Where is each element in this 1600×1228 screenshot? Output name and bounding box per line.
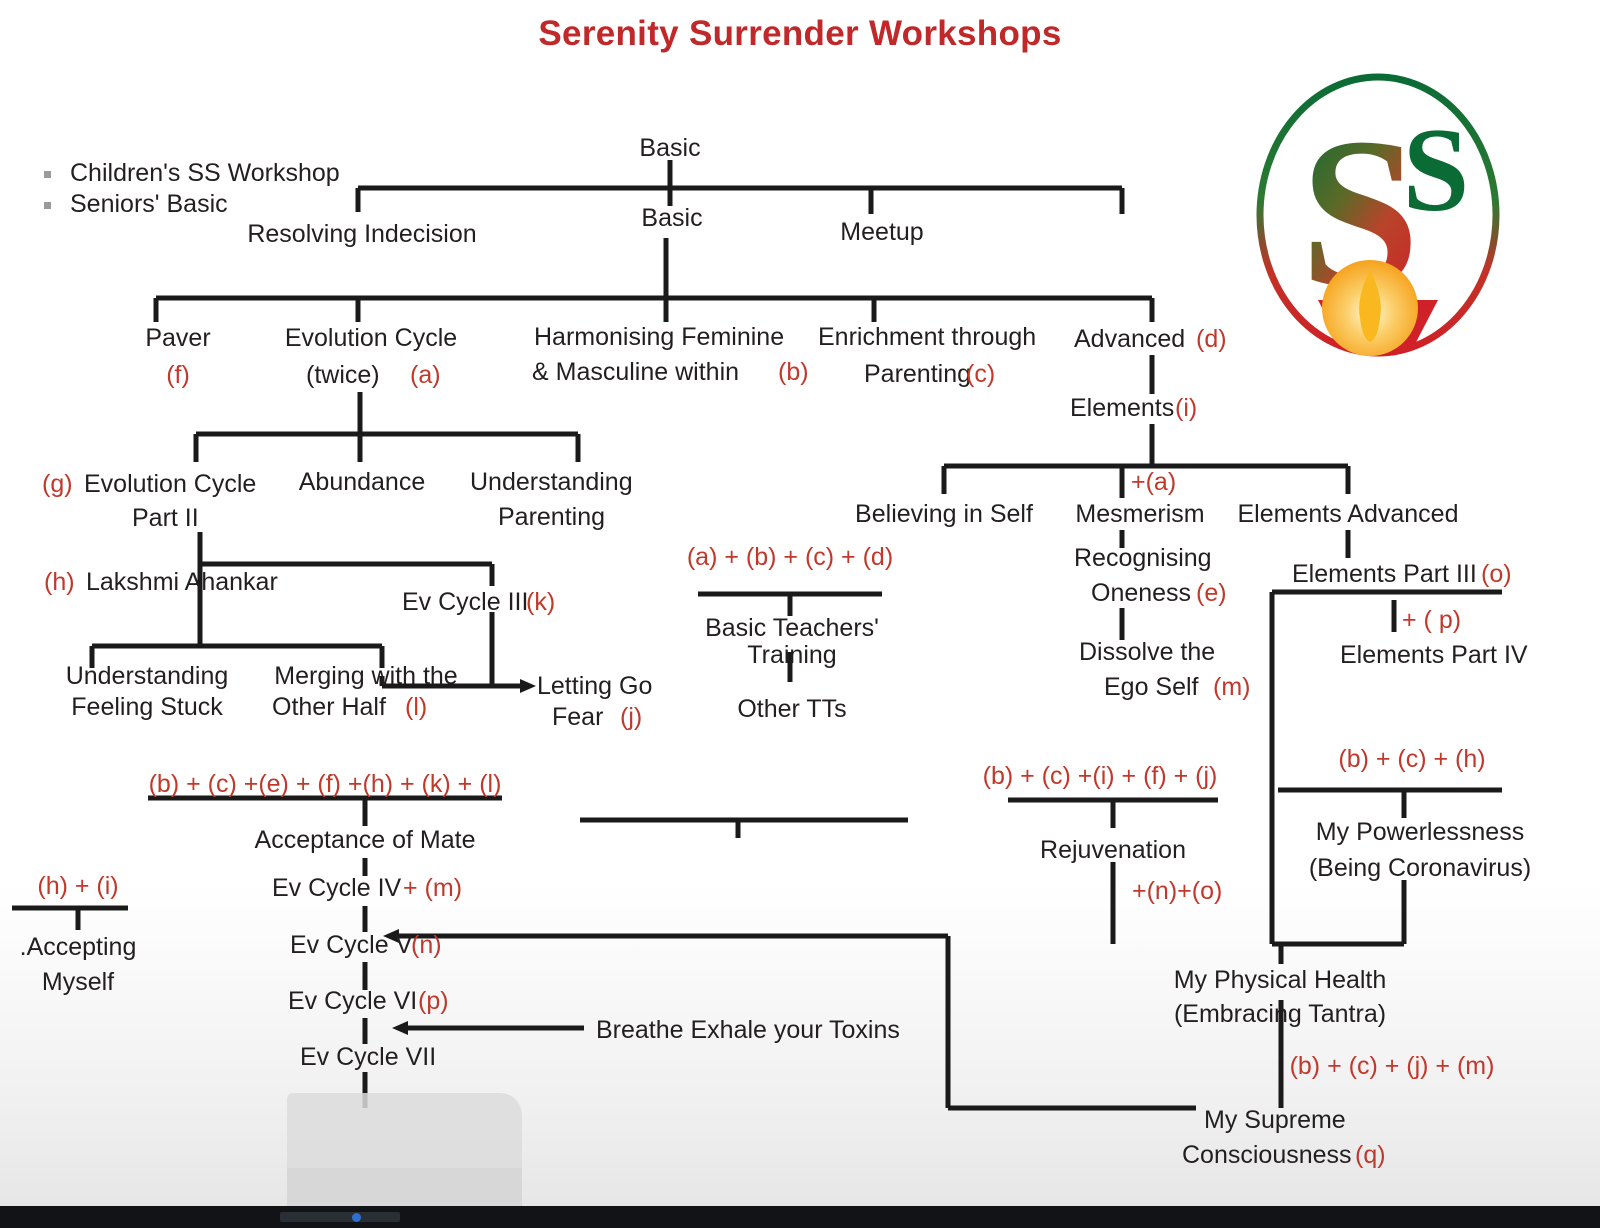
node-paver-tag: (f) <box>166 361 190 389</box>
node-supreme-tag: (q) <box>1355 1141 1386 1169</box>
node-other-tts: Other TTs <box>737 695 846 723</box>
node-ev-cycle-v-tag: (n) <box>411 931 442 959</box>
node-believing-in-self: Believing in Self <box>855 500 1033 528</box>
node-elements-part3: Elements Part III <box>1292 560 1477 588</box>
taskbar-indicator-dot <box>352 1213 361 1222</box>
node-mesmerism-plus: +(a) <box>1131 468 1176 496</box>
node-acceptance-of-mate: Acceptance of Mate <box>255 826 476 854</box>
node-dissolve-tag: (m) <box>1213 673 1250 701</box>
watermark-shape-lower <box>287 1168 522 1206</box>
node-ev-cycle-vi: Ev Cycle VI <box>288 987 417 1015</box>
node-lakshmi: Lakshmi Ahankar <box>86 568 278 596</box>
svg-text:S: S <box>1403 103 1470 236</box>
node-supreme-line1: My Supreme <box>1204 1106 1346 1134</box>
node-btt-line2: Training <box>747 641 836 669</box>
node-elements-part3-tag: (o) <box>1481 560 1512 588</box>
node-harmonising-tag: (b) <box>778 358 809 386</box>
serenity-surrender-logo: S S <box>1248 70 1508 360</box>
node-harmonising-line1: Harmonising Feminine <box>534 323 784 351</box>
node-advanced: Advanced <box>1074 325 1185 353</box>
node-lakshmi-tag: (h) <box>44 568 75 596</box>
node-harmonising-line2: & Masculine within <box>532 358 739 386</box>
node-dissolve-line1: Dissolve the <box>1079 638 1215 666</box>
node-physical-health-line2: (Embracing Tantra) <box>1174 1000 1386 1028</box>
node-meetup: Meetup <box>840 218 923 246</box>
node-paver: Paver <box>145 324 210 352</box>
node-letting-go-line1: Letting Go <box>537 672 652 700</box>
node-supreme-line2: Consciousness <box>1182 1141 1352 1169</box>
node-recognising-tag: (e) <box>1196 579 1227 607</box>
node-merging-line2: Other Half <box>272 693 386 721</box>
node-ev-cycle-iii-tag: (k) <box>526 588 555 616</box>
node-dissolve-line2: Ego Self <box>1104 673 1199 701</box>
node-evolution-part2-line1: Evolution Cycle <box>84 470 256 498</box>
node-btt-line1: Basic Teachers' <box>705 614 879 642</box>
node-basic-second: Basic <box>641 204 702 232</box>
node-elements-part4-plus: + ( p) <box>1402 606 1461 634</box>
node-btt-formula: (a) + (b) + (c) + (d) <box>687 543 893 571</box>
node-rejuvenation-plus: +(n)+(o) <box>1132 877 1222 905</box>
node-ev-cycle-iv: Ev Cycle IV <box>272 874 401 902</box>
node-abundance: Abundance <box>299 468 426 496</box>
node-enrichment-tag: (c) <box>966 360 995 388</box>
node-enrichment-line2: Parenting <box>864 360 971 388</box>
diagram-canvas: Serenity Surrender Workshops <box>0 0 1600 1228</box>
node-ev-cycle-iv-tag: + (m) <box>403 874 462 902</box>
node-advanced-tag: (d) <box>1196 325 1227 353</box>
node-evolution-cycle: Evolution Cycle <box>285 324 457 352</box>
node-letting-go-tag: (j) <box>620 703 642 731</box>
node-elements-part4: Elements Part IV <box>1340 641 1528 669</box>
node-letting-go-line2: Fear <box>552 703 603 731</box>
node-evolution-part2-tag: (g) <box>42 470 73 498</box>
node-recognising-line1: Recognising <box>1074 544 1212 572</box>
node-elements-tag: (i) <box>1175 394 1197 422</box>
node-recognising-line2: Oneness <box>1091 579 1191 607</box>
node-powerlessness-formula: (b) + (c) + (h) <box>1338 745 1485 773</box>
node-evolution-cycle-tag: (a) <box>410 361 441 389</box>
node-rejuvenation-formula: (b) + (c) +(i) + (f) + (j) <box>983 762 1218 790</box>
node-acceptance-formula: (b) + (c) +(e) + (f) +(h) + (k) + (l) <box>149 770 502 798</box>
node-understanding-feeling-line1: Understanding <box>66 662 229 690</box>
node-basic-top: Basic <box>639 134 700 162</box>
node-breathe-exhale: Breathe Exhale your Toxins <box>596 1016 900 1044</box>
list-item: Children's SS Workshop <box>36 158 340 189</box>
node-evolution-cycle-twice: (twice) <box>306 361 380 389</box>
node-physical-health-line1: My Physical Health <box>1174 966 1387 994</box>
node-elements: Elements <box>1070 394 1174 422</box>
node-ev-cycle-vi-tag: (p) <box>418 987 449 1015</box>
node-elements-advanced: Elements Advanced <box>1238 500 1459 528</box>
bottom-taskbar <box>0 1206 1600 1228</box>
node-accepting-myself-line2: Myself <box>42 968 114 996</box>
node-ev-cycle-v: Ev Cycle V <box>290 931 412 959</box>
node-rejuvenation: Rejuvenation <box>1040 836 1186 864</box>
taskbar-item <box>280 1212 400 1222</box>
node-supreme-formula: (b) + (c) + (j) + (m) <box>1290 1052 1495 1080</box>
node-evolution-part2-line2: Part II <box>132 504 199 532</box>
node-accepting-myself-line1: .Accepting <box>20 933 137 961</box>
node-understanding-parenting-line2: Parenting <box>498 503 605 531</box>
node-ev-cycle-iii: Ev Cycle III <box>402 588 528 616</box>
node-merging-line1: Merging with the <box>274 662 457 690</box>
node-resolving-indecision: Resolving Indecision <box>247 220 476 248</box>
node-mesmerism: Mesmerism <box>1075 500 1204 528</box>
node-powerlessness-line2: (Being Coronavirus) <box>1309 854 1531 882</box>
bullet-list: Children's SS Workshop Seniors' Basic <box>36 158 340 219</box>
page-title: Serenity Surrender Workshops <box>538 14 1061 54</box>
node-merging-tag: (l) <box>405 693 427 721</box>
list-item: Seniors' Basic <box>36 189 340 220</box>
node-accepting-formula: (h) + (i) <box>37 872 118 900</box>
node-enrichment-line1: Enrichment through <box>818 323 1036 351</box>
node-ev-cycle-vii: Ev Cycle VII <box>300 1043 436 1071</box>
node-understanding-parenting-line1: Understanding <box>470 468 633 496</box>
node-understanding-feeling-line2: Feeling Stuck <box>71 693 222 721</box>
node-powerlessness-line1: My Powerlessness <box>1316 818 1524 846</box>
